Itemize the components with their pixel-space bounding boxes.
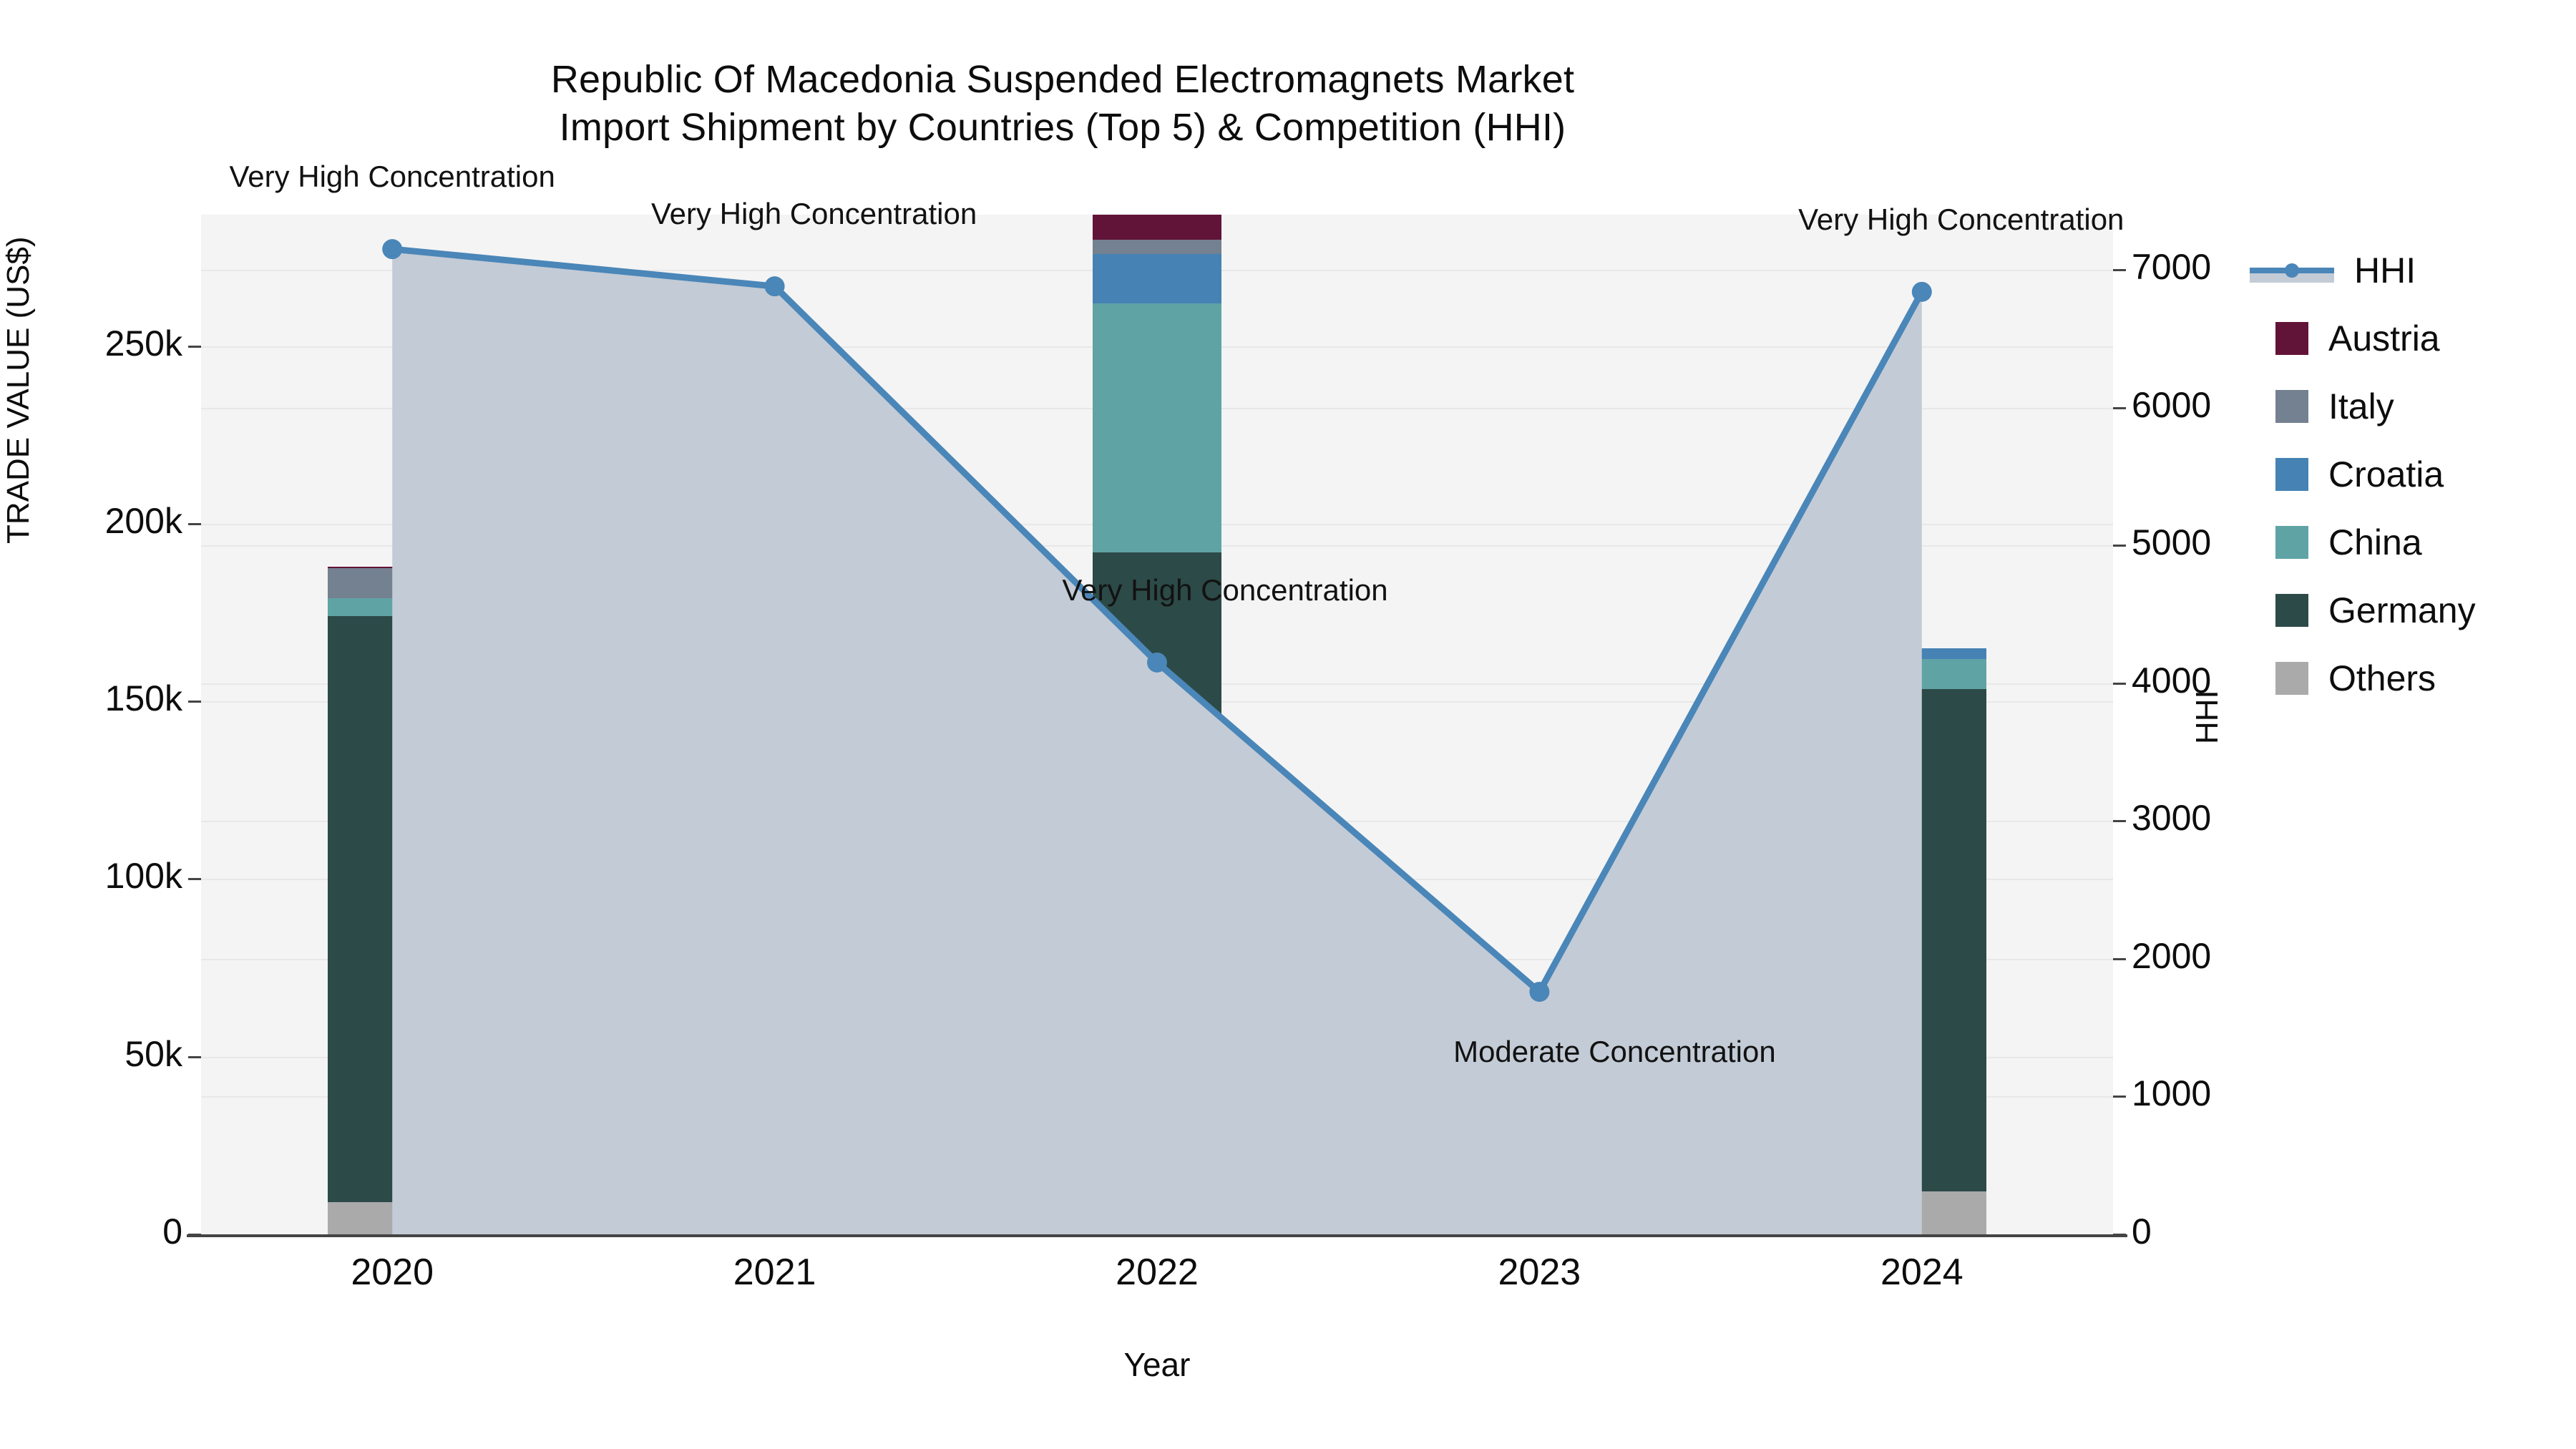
ytick-mark-right <box>2113 1096 2126 1098</box>
ytick-mark-left <box>188 878 201 880</box>
xtick-label-2020: 2020 <box>306 1251 478 1294</box>
legend-swatch-icon <box>2275 390 2308 423</box>
x-axis-line <box>187 1234 2127 1237</box>
annotation-2020: Very High Concentration <box>230 160 555 194</box>
chart-title-block: Republic Of Macedonia Suspended Electrom… <box>0 56 2125 152</box>
ytick-mark-right <box>2113 683 2126 685</box>
annotation-2024: Very High Concentration <box>1798 203 2124 237</box>
hhi-area-fill <box>392 249 1922 1234</box>
legend-label: Croatia <box>2328 454 2444 495</box>
ytick-label-left: 0 <box>162 1211 182 1252</box>
hhi-marker-2024[interactable] <box>1912 282 1932 302</box>
xtick-label-2024: 2024 <box>1836 1251 2008 1294</box>
legend-swatch-icon <box>2275 526 2308 559</box>
plot-area <box>201 215 2113 1234</box>
ytick-mark-right <box>2113 407 2126 409</box>
annotation-2023: Moderate Concentration <box>1453 1035 1776 1069</box>
xtick-label-2023: 2023 <box>1453 1251 1625 1294</box>
legend-label: Germany <box>2328 590 2476 631</box>
annotation-2021: Very High Concentration <box>651 197 977 231</box>
hhi-dot-icon <box>2285 263 2299 278</box>
ytick-label-left: 200k <box>105 500 182 542</box>
legend-swatch-icon <box>2275 322 2308 355</box>
chart-legend: HHIAustriaItalyCroatiaChinaGermanyOthers <box>2275 236 2576 712</box>
ytick-label-left: 100k <box>105 855 182 897</box>
legend-item-croatia[interactable]: Croatia <box>2275 440 2576 508</box>
ytick-label-left: 150k <box>105 678 182 719</box>
ytick-label-left: 50k <box>125 1033 182 1075</box>
ytick-label-right: 0 <box>2132 1211 2152 1252</box>
legend-label: China <box>2328 522 2422 563</box>
y-axis-title-left: TRADE VALUE (US$) <box>1 237 36 545</box>
legend-swatch-icon <box>2275 458 2308 491</box>
hhi-line-icon <box>2250 254 2334 287</box>
ytick-label-right: 5000 <box>2132 522 2211 563</box>
ytick-mark-left <box>188 701 201 703</box>
ytick-label-left: 250k <box>105 323 182 364</box>
legend-swatch-icon <box>2275 594 2308 627</box>
x-axis-title: Year <box>201 1345 2113 1384</box>
ytick-label-right: 7000 <box>2132 246 2211 288</box>
ytick-label-right: 2000 <box>2132 935 2211 977</box>
hhi-marker-2023[interactable] <box>1529 982 1549 1002</box>
xtick-label-2022: 2022 <box>1071 1251 1243 1294</box>
legend-label: Austria <box>2328 318 2440 359</box>
hhi-line-overlay <box>201 215 2113 1234</box>
legend-item-others[interactable]: Others <box>2275 644 2576 712</box>
chart-figure: Republic Of Macedonia Suspended Electrom… <box>0 0 2576 1449</box>
legend-item-china[interactable]: China <box>2275 508 2576 576</box>
legend-swatch-icon <box>2275 662 2308 695</box>
legend-item-germany[interactable]: Germany <box>2275 576 2576 644</box>
ytick-label-right: 1000 <box>2132 1073 2211 1114</box>
ytick-mark-right <box>2113 958 2126 960</box>
chart-subtitle: Import Shipment by Countries (Top 5) & C… <box>0 104 2125 152</box>
ytick-label-right: 6000 <box>2132 384 2211 426</box>
ytick-mark-right <box>2113 269 2126 271</box>
xtick-label-2021: 2021 <box>689 1251 861 1294</box>
y-axis-title-right: HHI <box>2190 690 2225 744</box>
ytick-mark-left <box>188 523 201 525</box>
hhi-marker-2022[interactable] <box>1147 653 1167 673</box>
legend-label: Others <box>2328 658 2436 699</box>
ytick-mark-right <box>2113 545 2126 547</box>
ytick-mark-left <box>188 1056 201 1058</box>
ytick-label-right: 3000 <box>2132 797 2211 839</box>
ytick-mark-left <box>188 346 201 348</box>
hhi-marker-2020[interactable] <box>382 239 402 259</box>
hhi-marker-2021[interactable] <box>765 276 785 296</box>
legend-label: Italy <box>2328 386 2394 427</box>
legend-item-hhi[interactable]: HHI <box>2275 236 2576 304</box>
annotation-2022: Very High Concentration <box>1062 573 1387 608</box>
legend-item-italy[interactable]: Italy <box>2275 372 2576 440</box>
ytick-mark-right <box>2113 820 2126 822</box>
legend-label: HHI <box>2354 250 2416 291</box>
page-title: Republic Of Macedonia Suspended Electrom… <box>0 56 2125 104</box>
legend-item-austria[interactable]: Austria <box>2275 304 2576 372</box>
